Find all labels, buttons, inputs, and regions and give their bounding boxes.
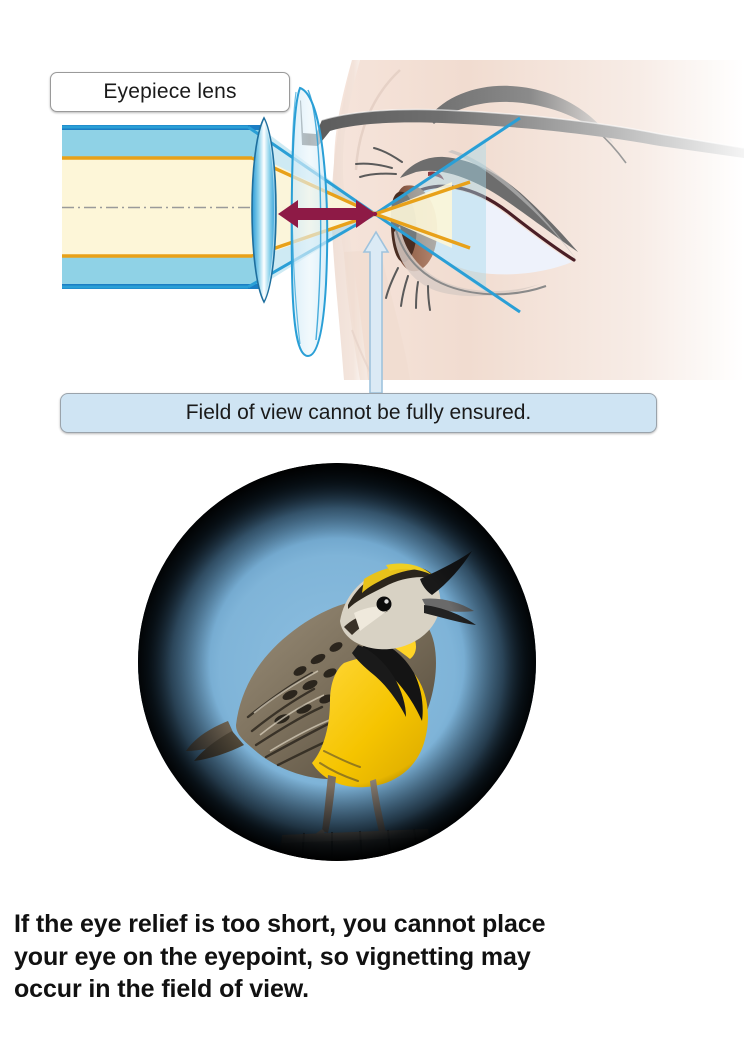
caption-text: If the eye relief is too short, you cann…	[14, 908, 714, 1006]
caption-line-1: If the eye relief is too short, you cann…	[14, 908, 714, 941]
bird-photo	[132, 463, 542, 861]
eyepiece-lens	[252, 118, 276, 302]
field-of-view-callout: Field of view cannot be fully ensured.	[60, 393, 657, 433]
diagram-stage: Eyepiece lens Field of view cannot be fu…	[0, 0, 744, 1064]
caption-line-2: your eye on the eyepoint, so vignetting …	[14, 941, 714, 974]
caption-line-3: occur in the field of view.	[14, 973, 714, 1006]
eyepiece-lens-label: Eyepiece lens	[50, 72, 290, 112]
eyepoint-marker	[373, 212, 377, 216]
eyepiece-view-circle	[132, 463, 542, 861]
optical-diagram	[0, 0, 744, 445]
